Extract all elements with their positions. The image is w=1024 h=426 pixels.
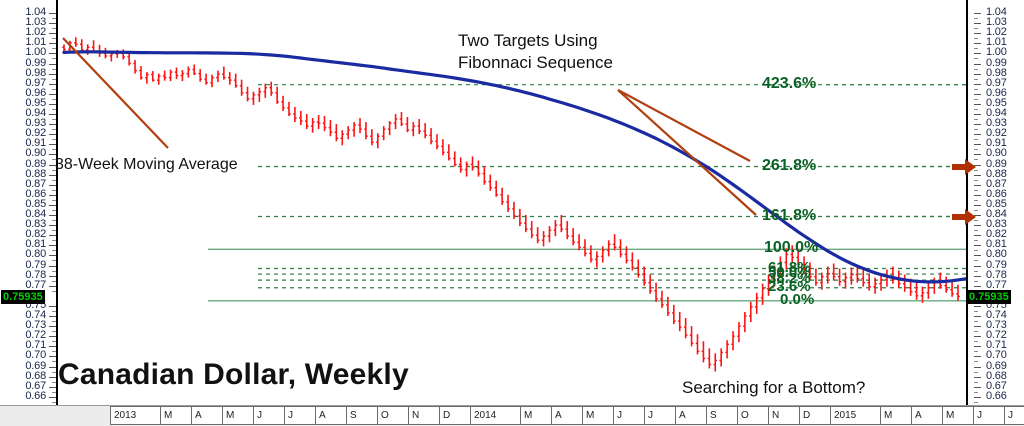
x-axis-month-label: M — [881, 407, 912, 424]
fibonacci-lines — [208, 85, 966, 301]
y-axis-minor-tick — [974, 260, 978, 261]
y-axis-tick-mark — [49, 13, 56, 14]
moving-average-annotation: 38-Week Moving Average — [55, 156, 238, 174]
y-axis-left: 1.041.031.021.011.000.990.980.970.960.95… — [0, 0, 60, 405]
moving-average-pointer-line — [63, 38, 168, 148]
x-axis-month-label: A — [192, 407, 223, 424]
page-title: Canadian Dollar, Weekly — [58, 358, 409, 392]
y-axis-tick-mark — [974, 397, 981, 398]
y-axis-tick-mark — [974, 33, 981, 34]
y-axis-tick-mark — [974, 104, 981, 105]
x-axis-month-label: O — [738, 407, 769, 424]
y-axis-tick-mark — [49, 43, 56, 44]
y-axis-tick-mark — [974, 154, 981, 155]
y-axis-tick-mark — [974, 144, 981, 145]
y-axis-tick-label: 0.77 — [986, 279, 1007, 291]
y-axis-tick-mark — [974, 185, 981, 186]
targets-annotation-line1: Two Targets Using — [458, 30, 613, 52]
y-axis-minor-tick — [974, 351, 978, 352]
y-axis-minor-tick — [974, 18, 978, 19]
y-axis-tick-mark — [49, 266, 56, 267]
y-axis-tick-mark — [974, 377, 981, 378]
y-axis-tick-mark — [974, 235, 981, 236]
x-axis-month-label: N — [409, 407, 440, 424]
y-axis-tick-mark — [49, 134, 56, 135]
y-axis-right: 1.041.031.021.011.000.990.980.970.960.95… — [964, 0, 1024, 405]
y-axis-tick-mark — [49, 387, 56, 388]
current-price-tag-left: 0.75935 — [1, 290, 45, 304]
y-axis-tick-mark — [974, 316, 981, 317]
x-axis-month-label: A — [676, 407, 707, 424]
y-axis-minor-tick — [974, 281, 978, 282]
fibonacci-level-label: 100.0% — [764, 239, 818, 257]
y-axis-minor-tick — [974, 139, 978, 140]
y-axis-tick-mark — [49, 225, 56, 226]
y-axis-minor-tick — [974, 109, 978, 110]
x-axis: 2013MAMJJASOND2014MAMJJASOND2015MAMJJASO… — [0, 405, 1024, 426]
bottom-annotation: Searching for a Bottom? — [682, 378, 865, 398]
y-axis-tick-mark — [49, 74, 56, 75]
y-axis-minor-tick — [974, 149, 978, 150]
y-axis-minor-tick — [974, 240, 978, 241]
x-axis-month-label: D — [440, 407, 471, 424]
targets-annotation: Two Targets Using Fibonnaci Sequence — [458, 30, 613, 74]
y-axis-tick-mark — [49, 124, 56, 125]
y-axis-tick-mark — [49, 185, 56, 186]
x-axis-month-label: M — [583, 407, 614, 424]
y-axis-minor-tick — [974, 372, 978, 373]
y-axis-tick-mark — [974, 346, 981, 347]
y-axis-tick-mark — [974, 245, 981, 246]
y-axis-minor-tick — [974, 38, 978, 39]
y-axis-tick-mark — [49, 245, 56, 246]
y-axis-minor-tick — [974, 28, 978, 29]
y-axis-minor-tick — [974, 331, 978, 332]
y-axis-tick-mark — [974, 64, 981, 65]
fibonacci-level-label: 423.6% — [762, 75, 816, 93]
fibonacci-target-arrow — [952, 158, 978, 181]
y-axis-tick-mark — [974, 306, 981, 307]
x-axis-month-label: J — [1005, 407, 1024, 424]
x-axis-year-label: 2015 — [831, 407, 881, 424]
x-axis-month-label: M — [521, 407, 552, 424]
y-axis-tick-mark — [49, 306, 56, 307]
x-axis-month-label: M — [161, 407, 192, 424]
y-axis-tick-mark — [974, 255, 981, 256]
x-axis-ticks: 2013MAMJJASOND2014MAMJJASOND2015MAMJJASO… — [110, 406, 1024, 425]
y-axis-minor-tick — [974, 250, 978, 251]
y-axis-minor-tick — [974, 311, 978, 312]
y-axis-tick-mark — [49, 377, 56, 378]
y-axis-tick-mark — [49, 114, 56, 115]
x-axis-month-label: D — [800, 407, 831, 424]
x-axis-month-label: S — [347, 407, 378, 424]
y-axis-tick-label: 0.66 — [25, 390, 46, 402]
y-axis-tick-mark — [49, 326, 56, 327]
target-pointer-lines — [63, 38, 756, 215]
y-axis-tick-mark — [49, 64, 56, 65]
y-axis-minor-tick — [974, 119, 978, 120]
fibonacci-target-arrow — [952, 208, 978, 231]
x-axis-month-label: J — [285, 407, 316, 424]
y-axis-tick-mark — [974, 276, 981, 277]
y-axis-tick-mark — [974, 74, 981, 75]
x-axis-month-label: A — [552, 407, 583, 424]
x-axis-month-label: A — [912, 407, 943, 424]
y-axis-tick-mark — [49, 144, 56, 145]
y-axis-tick-mark — [974, 367, 981, 368]
y-axis-tick-mark — [974, 13, 981, 14]
x-axis-month-label: J — [974, 407, 1005, 424]
x-axis-month-label: N — [769, 407, 800, 424]
y-axis-tick-mark — [974, 336, 981, 337]
y-axis-minor-tick — [974, 99, 978, 100]
y-axis-tick-mark — [49, 104, 56, 105]
y-axis-tick-mark — [974, 195, 981, 196]
y-axis-tick-mark — [974, 43, 981, 44]
y-axis-tick-mark — [49, 205, 56, 206]
y-axis-tick-mark — [974, 134, 981, 135]
y-axis-tick-mark — [49, 33, 56, 34]
y-axis-tick-mark — [49, 195, 56, 196]
y-axis-minor-tick — [974, 190, 978, 191]
y-axis-tick-mark — [49, 255, 56, 256]
y-axis-tick-mark — [974, 387, 981, 388]
x-axis-month-label: J — [614, 407, 645, 424]
y-axis-tick-mark — [974, 114, 981, 115]
fibonacci-level-label: 261.8% — [762, 157, 816, 175]
x-axis-month-label: M — [223, 407, 254, 424]
x-axis-year-label: 2014 — [471, 407, 521, 424]
y-axis-tick-mark — [974, 326, 981, 327]
x-axis-year-label: 2013 — [111, 407, 161, 424]
y-axis-tick-mark — [49, 286, 56, 287]
y-axis-tick-mark — [49, 346, 56, 347]
y-axis-tick-mark — [49, 336, 56, 337]
y-axis-tick-mark — [974, 84, 981, 85]
y-axis-minor-tick — [974, 58, 978, 59]
y-axis-minor-tick — [974, 48, 978, 49]
y-axis-tick-mark — [49, 235, 56, 236]
y-axis-tick-mark — [974, 266, 981, 267]
y-axis-tick-mark — [974, 356, 981, 357]
y-axis-minor-tick — [974, 392, 978, 393]
y-axis-minor-tick — [974, 89, 978, 90]
y-axis-tick-mark — [49, 94, 56, 95]
x-axis-month-label: J — [645, 407, 676, 424]
fibonacci-level-label: 0.0% — [780, 291, 814, 308]
y-axis-minor-tick — [974, 271, 978, 272]
y-axis-tick-mark — [49, 367, 56, 368]
y-axis-tick-label: 0.77 — [25, 279, 46, 291]
y-axis-tick-mark — [49, 397, 56, 398]
x-axis-month-label: M — [943, 407, 974, 424]
x-axis-month-label: A — [316, 407, 347, 424]
y-axis-minor-tick — [974, 361, 978, 362]
fibonacci-level-label: 161.8% — [762, 207, 816, 225]
y-axis-minor-tick — [974, 321, 978, 322]
x-axis-month-label: S — [707, 407, 738, 424]
y-axis-minor-tick — [974, 402, 978, 403]
y-axis-tick-mark — [974, 23, 981, 24]
y-axis-minor-tick — [974, 341, 978, 342]
y-axis-minor-tick — [974, 69, 978, 70]
y-axis-tick-mark — [49, 53, 56, 54]
x-axis-month-label: O — [378, 407, 409, 424]
y-axis-tick-mark — [49, 215, 56, 216]
y-axis-tick-mark — [49, 23, 56, 24]
y-axis-minor-tick — [974, 200, 978, 201]
y-axis-right-spine — [966, 0, 968, 405]
y-axis-minor-tick — [974, 382, 978, 383]
y-axis-tick-mark — [49, 175, 56, 176]
y-axis-tick-label: 0.66 — [986, 390, 1007, 402]
chart-canvas: 1.041.031.021.011.000.990.980.970.960.95… — [0, 0, 1024, 425]
y-axis-tick-mark — [49, 84, 56, 85]
y-axis-tick-mark — [974, 53, 981, 54]
y-axis-tick-mark — [974, 124, 981, 125]
targets-annotation-line2: Fibonnaci Sequence — [458, 52, 613, 74]
y-axis-tick-mark — [49, 316, 56, 317]
current-price-tag-right: 0.75935 — [967, 290, 1011, 304]
y-axis-tick-mark — [974, 286, 981, 287]
y-axis-minor-tick — [974, 79, 978, 80]
y-axis-tick-mark — [49, 356, 56, 357]
y-axis-tick-mark — [974, 205, 981, 206]
y-axis-tick-mark — [974, 94, 981, 95]
x-axis-month-label: J — [254, 407, 285, 424]
y-axis-tick-mark — [49, 276, 56, 277]
y-axis-minor-tick — [974, 129, 978, 130]
